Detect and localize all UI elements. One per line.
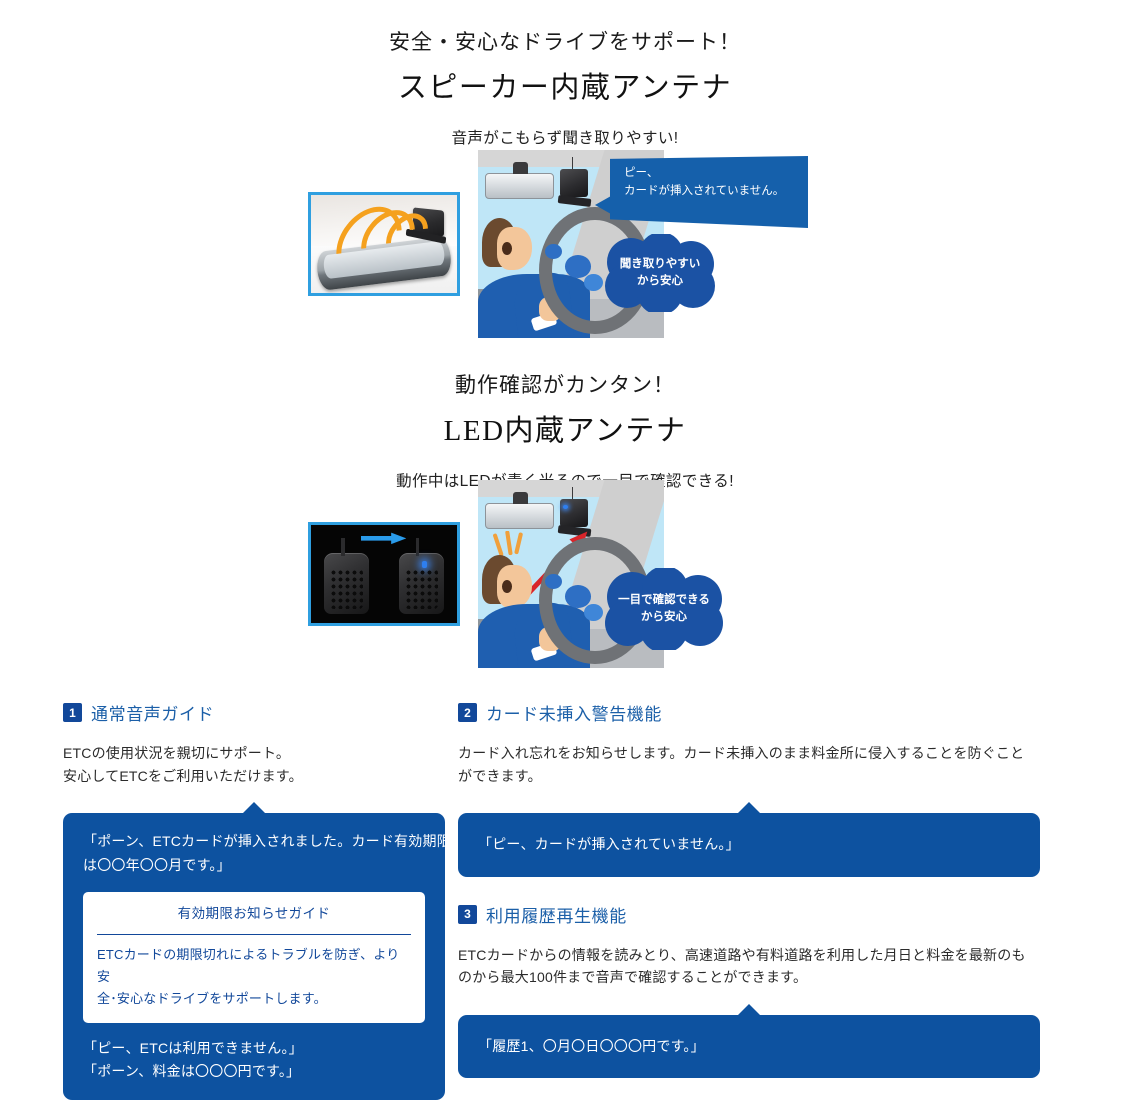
expiry-guide-card: 有効期限お知らせガイド ETCカードの期限切れによるトラブルを防ぎ、より安 全･… xyxy=(83,892,425,1023)
product-feature-page: 安全・安心なドライブをサポート！ スピーカー内蔵アンテナ 音声がこもらず聞き取り… xyxy=(0,0,1130,1069)
callout-bottom-line-1: 「ピー、ETCは利用できません。」 xyxy=(83,1037,425,1060)
cloud-line-2: から安心 xyxy=(618,609,710,626)
led-indicator xyxy=(563,505,567,509)
feature-2-callout-line-1: 「ピー、カードが挿入されていません。」 xyxy=(478,833,1020,856)
cloud-bubble-easy-to-hear: 聞き取りやすい から安心 xyxy=(601,234,719,312)
led-title: LED内蔵アンテナ xyxy=(0,407,1130,449)
speaker-antenna-photo xyxy=(308,192,460,296)
speaker-title: スピーカー内蔵アンテナ xyxy=(0,64,1130,106)
callout-bottom-line-2: 「ポーン、料金は〇〇〇円です。」 xyxy=(83,1060,425,1083)
feature-3-title: 利用履歴再生機能 xyxy=(486,902,627,927)
speaker-lead-text: 安全・安心なドライブをサポート！ xyxy=(0,26,1130,56)
cloud-bubble-easy-to-check: 一目で確認できる から安心 xyxy=(600,568,728,650)
expiry-guide-title: 有効期限お知らせガイド xyxy=(97,903,411,935)
feature-1-callout-bottom: 「ピー、ETCは利用できません。」 「ポーン、料金は〇〇〇円です。」 xyxy=(83,1037,425,1083)
speech-banner-card-not-inserted: ピー、 カードが挿入されていません。 xyxy=(610,156,808,228)
cloud-line-1: 一目で確認できる xyxy=(618,592,710,609)
cloud-bubble-text: 一目で確認できる から安心 xyxy=(612,592,716,625)
antenna-device-icon xyxy=(560,169,588,197)
callout-top-line-2: は〇〇年〇〇月です。」 xyxy=(83,854,425,877)
speaker-grille xyxy=(330,569,363,609)
callout-notch xyxy=(737,802,761,814)
feature-1-callout-top: 「ポーン、ETCカードが挿入されました。カード有効期限 は〇〇年〇〇月です。」 xyxy=(83,830,425,876)
expiry-guide-line-2: 全･安心なドライブをサポートします。 xyxy=(97,988,411,1010)
feature-3-badge: 3 xyxy=(458,905,477,924)
feature-1-title: 通常音声ガイド xyxy=(91,700,214,725)
banner-line-2: カードが挿入されていません。 xyxy=(624,183,796,201)
feature-2-body-line-2: ができます。 xyxy=(458,765,1040,788)
cloud-line-2: から安心 xyxy=(620,273,701,290)
feature-2-title: カード未挿入警告機能 xyxy=(486,700,662,725)
expiry-guide-line-1: ETCカードの期限切れによるトラブルを防ぎ、より安 xyxy=(97,944,411,988)
feature-column-right: 2 カード未挿入警告機能 カード入れ忘れをお知らせします。カード未挿入のまま料金… xyxy=(458,700,1040,1078)
steering-button xyxy=(545,244,562,259)
speaker-note: 音声がこもらず聞き取りやすい! xyxy=(0,126,1130,148)
feature-1-body: ETCの使用状況を親切にサポート。 安心してETCをご利用いただけます。 xyxy=(63,742,445,787)
feature-2-callout: 「ピー、カードが挿入されていません。」 xyxy=(458,813,1040,876)
feature-3-body: ETCカードからの情報を読みとり、高速道路や有料道路を利用した月日と料金を最新の… xyxy=(458,944,1040,989)
feature-1-body-line-1: ETCの使用状況を親切にサポート。 xyxy=(63,742,445,765)
feature-2-badge: 2 xyxy=(458,703,477,722)
led-antenna-photo xyxy=(308,522,460,626)
steering-button xyxy=(545,574,562,589)
speech-banner-tail xyxy=(595,196,611,214)
callout-top-line-1: 「ポーン、ETCカードが挿入されました。カード有効期限 xyxy=(83,830,425,853)
callout-notch xyxy=(737,1004,761,1016)
feature-1-callout: 「ポーン、ETCカードが挿入されました。カード有効期限 は〇〇年〇〇月です。」 … xyxy=(63,813,445,1100)
led-indicator xyxy=(422,561,427,568)
speaker-grille xyxy=(405,569,438,609)
feature-3-body-line-2: のから最大100件まで音声で確認することができます。 xyxy=(458,966,1040,989)
feature-3-body-line-1: ETCカードからの情報を読みとり、高速道路や有料道路を利用した月日と料金を最新の… xyxy=(458,944,1040,967)
antenna-device-icon xyxy=(560,499,588,527)
feature-1-badge: 1 xyxy=(63,703,82,722)
led-section-heading: 動作確認がカンタン！ LED内蔵アンテナ 動作中はLEDが青く光るので一目で確認… xyxy=(0,369,1130,491)
rearview-mirror-icon xyxy=(485,173,554,199)
led-lead-text: 動作確認がカンタン！ xyxy=(0,369,1130,399)
feature-2-body: カード入れ忘れをお知らせします。カード未挿入のまま料金所に侵入することを防ぐこと… xyxy=(458,742,1040,787)
feature-3-header: 3 利用履歴再生機能 xyxy=(458,902,1040,927)
feature-3-callout-line-1: 「履歴1、〇月〇日〇〇〇円です。」 xyxy=(478,1035,1020,1058)
antenna-cable xyxy=(416,538,420,556)
antenna-cable xyxy=(341,538,345,556)
callout-notch xyxy=(242,802,266,814)
steering-button xyxy=(584,274,603,291)
speaker-section-heading: 安全・安心なドライブをサポート！ スピーカー内蔵アンテナ 音声がこもらず聞き取り… xyxy=(0,26,1130,148)
antenna-unit-off xyxy=(324,553,369,614)
rearview-mirror-icon xyxy=(485,503,554,529)
blue-arrow-icon xyxy=(361,532,406,545)
feature-2-header: 2 カード未挿入警告機能 xyxy=(458,700,1040,725)
banner-line-1: ピー、 xyxy=(624,165,796,183)
cloud-line-1: 聞き取りやすい xyxy=(620,256,701,273)
feature-column-left: 1 通常音声ガイド ETCの使用状況を親切にサポート。 安心してETCをご利用い… xyxy=(63,700,445,1100)
antenna-unit-on xyxy=(399,553,444,614)
cloud-bubble-text: 聞き取りやすい から安心 xyxy=(614,256,707,289)
feature-1-header: 1 通常音声ガイド xyxy=(63,700,445,725)
expiry-guide-body: ETCカードの期限切れによるトラブルを防ぎ、より安 全･安心なドライブをサポート… xyxy=(97,935,411,1009)
feature-2-body-line-1: カード入れ忘れをお知らせします。カード未挿入のまま料金所に侵入することを防ぐこと xyxy=(458,742,1040,765)
feature-1-body-line-2: 安心してETCをご利用いただけます。 xyxy=(63,765,445,788)
